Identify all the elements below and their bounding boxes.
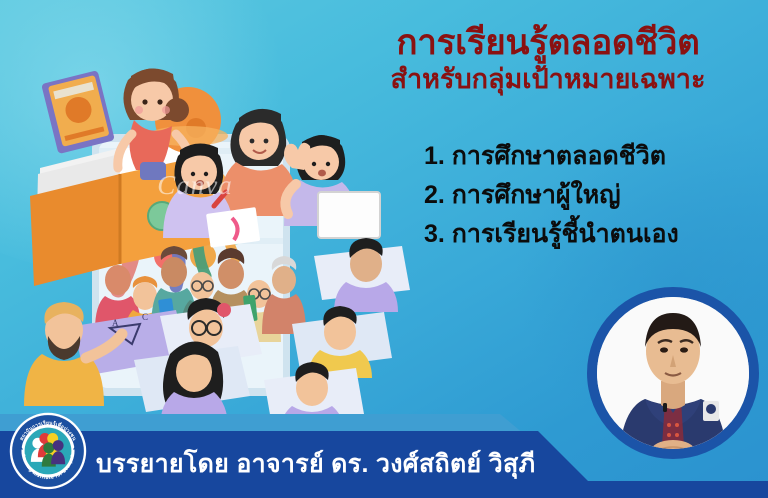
speaker-credit: บรรยายโดย อาจารย์ ดร. วงศ์สถิตย์ วิสุภี [96, 444, 616, 484]
shirt-badge [703, 401, 719, 421]
headline-block: การเรียนรู้ตลอดชีวิต สำหรับกลุ่มเป้าหมาย… [336, 24, 760, 95]
speaker-portrait [585, 285, 761, 461]
list-item: 1. การศึกษาตลอดชีวิต [424, 144, 754, 169]
list-item: 2. การศึกษาผู้ใหญ่ [424, 183, 754, 208]
list-item: 3. การเรียนรู้ชี้นำตนเอง [424, 222, 754, 247]
svg-text:C: C [142, 312, 148, 322]
svg-text:A: A [112, 318, 119, 328]
topic-list: 1. การศึกษาตลอดชีวิต 2. การศึกษาผู้ใหญ่ … [424, 144, 754, 261]
page-subtitle: สำหรับกลุ่มเป้าหมายเฉพาะ [336, 64, 760, 95]
slide-canvas: A C [0, 0, 768, 498]
page-title: การเรียนรู้ตลอดชีวิต [336, 24, 760, 62]
small-book [41, 70, 115, 154]
learning-institute-logo: สถาบันการเรียนรู้เพื่อปวงชน Learning Ins… [9, 412, 87, 490]
teacher-and-students: A C [24, 298, 262, 428]
